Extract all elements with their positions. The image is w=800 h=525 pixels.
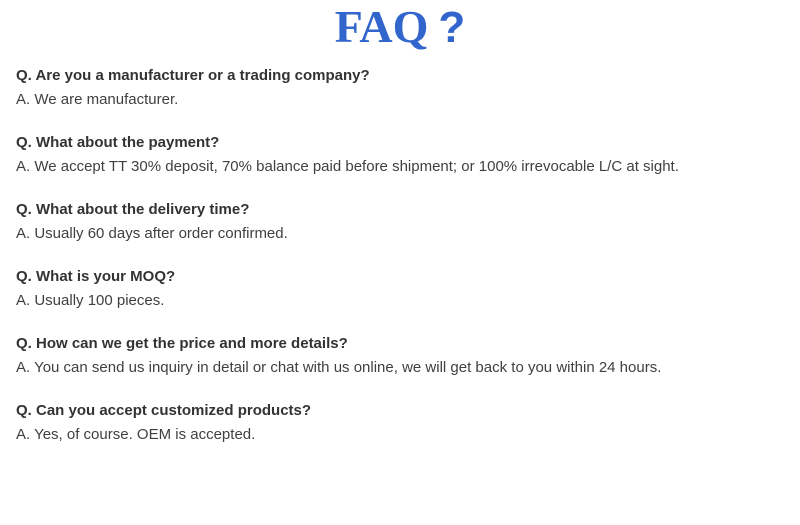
- faq-item: Q. Are you a manufacturer or a trading c…: [16, 64, 790, 112]
- faq-question: Q. What about the payment?: [16, 131, 790, 155]
- faq-answer: A. You can send us inquiry in detail or …: [16, 356, 790, 380]
- faq-question: Q. What is your MOQ?: [16, 265, 790, 289]
- faq-title-block: FAQ?: [0, 0, 800, 56]
- faq-question: Q. Are you a manufacturer or a trading c…: [16, 64, 790, 88]
- faq-item: Q. How can we get the price and more det…: [16, 332, 790, 380]
- faq-answer: A. Usually 60 days after order confirmed…: [16, 222, 790, 246]
- faq-question: Q. Can you accept customized products?: [16, 399, 790, 423]
- faq-item: Q. What is your MOQ? A. Usually 100 piec…: [16, 265, 790, 313]
- faq-question: Q. How can we get the price and more det…: [16, 332, 790, 356]
- faq-item: Q. What about the payment? A. We accept …: [16, 131, 790, 179]
- faq-answer: A. Yes, of course. OEM is accepted.: [16, 423, 790, 447]
- faq-title-text: FAQ: [335, 1, 429, 52]
- faq-title: FAQ?: [335, 4, 466, 50]
- faq-list: Q. Are you a manufacturer or a trading c…: [0, 56, 800, 447]
- question-mark-icon: ?: [438, 3, 465, 52]
- faq-page: FAQ? Q. Are you a manufacturer or a trad…: [0, 0, 800, 525]
- faq-answer: A. We accept TT 30% deposit, 70% balance…: [16, 155, 790, 179]
- faq-item: Q. Can you accept customized products? A…: [16, 399, 790, 447]
- faq-answer: A. Usually 100 pieces.: [16, 289, 790, 313]
- faq-answer: A. We are manufacturer.: [16, 88, 790, 112]
- faq-question: Q. What about the delivery time?: [16, 198, 790, 222]
- faq-item: Q. What about the delivery time? A. Usua…: [16, 198, 790, 246]
